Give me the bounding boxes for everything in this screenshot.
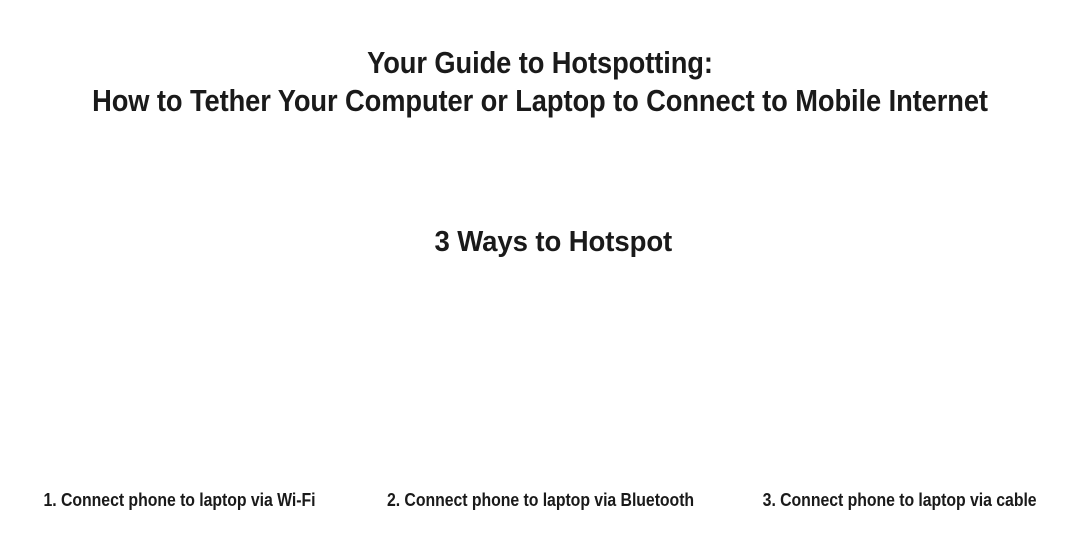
step-2-caption: 2. Connect phone to laptop via Bluetooth: [360, 486, 720, 514]
step-2-illustration: [360, 276, 720, 476]
step-3-illustration: [720, 276, 1080, 476]
step-3-caption-label: 3. Connect phone to laptop via cable: [763, 487, 1037, 513]
step-1-illustration: [0, 276, 360, 476]
step-captions-row: 1. Connect phone to laptop via Wi-Fi 2. …: [0, 486, 1080, 514]
page-title-line-2: How to Tether Your Computer or Laptop to…: [65, 82, 1015, 120]
steps-illustration-band: [0, 276, 1080, 476]
infographic-page: Your Guide to Hotspotting: How to Tether…: [0, 0, 1080, 552]
step-1-caption: 1. Connect phone to laptop via Wi-Fi: [0, 486, 360, 514]
step-1-caption-label: 1. Connect phone to laptop via Wi-Fi: [44, 487, 316, 513]
step-3-caption: 3. Connect phone to laptop via cable: [720, 486, 1080, 514]
section-heading: 3 Ways to Hotspot: [27, 224, 1053, 260]
page-title-line-1: Your Guide to Hotspotting:: [65, 44, 1015, 82]
page-title: Your Guide to Hotspotting: How to Tether…: [0, 44, 1080, 120]
step-2-caption-label: 2. Connect phone to laptop via Bluetooth: [386, 487, 693, 513]
